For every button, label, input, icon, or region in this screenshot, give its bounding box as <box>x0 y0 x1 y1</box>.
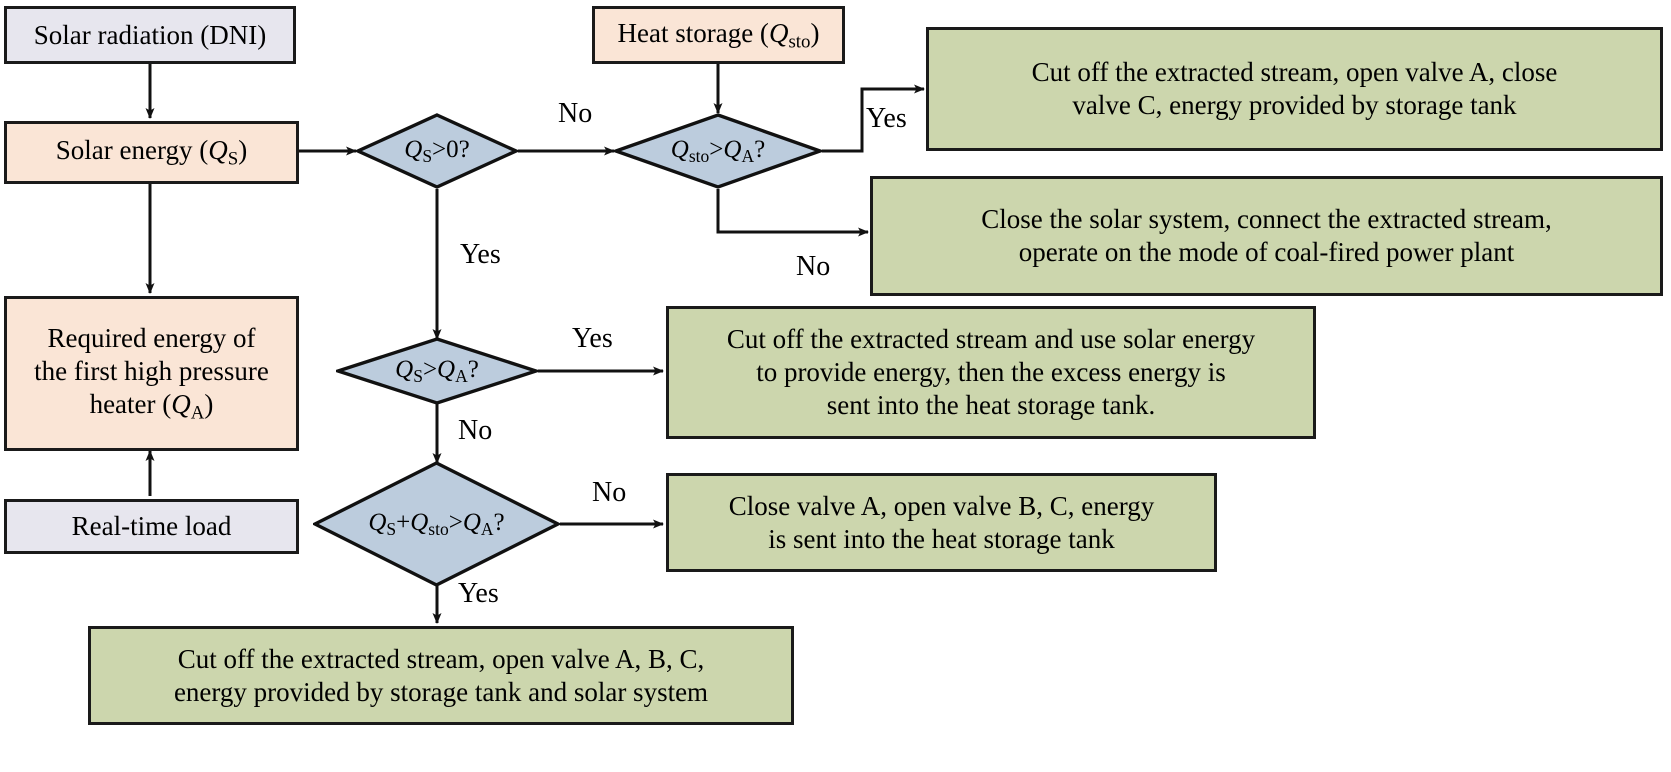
action-a2-line1: Close the solar system, connect the extr… <box>981 203 1552 236</box>
action-box-a2[interactable]: Close the solar system, connect the extr… <box>870 176 1663 296</box>
action-a1-line2: valve C, energy provided by storage tank <box>1072 89 1516 122</box>
node-solar-radiation[interactable]: Solar radiation (DNI) <box>4 6 296 64</box>
edge-label-d2-no: No <box>796 251 830 283</box>
action-box-a1[interactable]: Cut off the extracted stream, open valve… <box>926 27 1663 151</box>
node-required-energy[interactable]: Required energy of the first high pressu… <box>4 296 299 451</box>
decision-d2[interactable]: Qsto>QA? <box>614 113 822 189</box>
decision-d4[interactable]: QS+Qsto>QA? <box>313 461 560 587</box>
action-box-a4[interactable]: Close valve A, open valve B, C, energy i… <box>666 473 1217 572</box>
node-heat-storage-label: Heat storage (Qsto) <box>618 17 820 53</box>
action-a5-line1: Cut off the extracted stream, open valve… <box>178 643 705 676</box>
action-a2-line2: operate on the mode of coal-fired power … <box>1019 236 1515 269</box>
decision-d4-shape <box>313 461 560 587</box>
node-realtime-load[interactable]: Real-time load <box>4 499 299 554</box>
action-box-a5[interactable]: Cut off the extracted stream, open valve… <box>88 626 794 725</box>
action-a3-line3: sent into the heat storage tank. <box>827 389 1155 422</box>
node-realtime-load-label: Real-time load <box>72 510 232 543</box>
decision-d3-shape <box>336 337 538 405</box>
edge-label-d1-yes: Yes <box>460 239 501 271</box>
edge-label-d2-yes: Yes <box>866 103 907 135</box>
node-solar-energy[interactable]: Solar energy (QS) <box>4 121 299 184</box>
node-required-energy-line2: the first high pressure <box>34 355 269 388</box>
action-a5-line2: energy provided by storage tank and sola… <box>174 676 708 709</box>
flowchart-canvas: Solar radiation (DNI) Solar energy (QS) … <box>0 0 1671 772</box>
decision-d3[interactable]: QS>QA? <box>336 337 538 405</box>
node-solar-energy-label: Solar energy (QS) <box>56 134 247 170</box>
edge-label-d1-no: No <box>558 98 592 130</box>
edge-d2-no-to-a2 <box>718 189 868 232</box>
action-box-a3[interactable]: Cut off the extracted stream and use sol… <box>666 306 1316 439</box>
edge-label-d3-no: No <box>458 415 492 447</box>
decision-d1-shape <box>356 113 518 189</box>
decision-d1[interactable]: QS>0? <box>356 113 518 189</box>
action-a4-line2: is sent into the heat storage tank <box>768 523 1114 556</box>
action-a3-line2: to provide energy, then the excess energ… <box>756 356 1226 389</box>
action-a4-line1: Close valve A, open valve B, C, energy <box>729 490 1154 523</box>
edge-label-d4-yes: Yes <box>458 578 499 610</box>
edge-label-d4-no: No <box>592 477 626 509</box>
action-a1-line1: Cut off the extracted stream, open valve… <box>1032 56 1558 89</box>
action-a3-line1: Cut off the extracted stream and use sol… <box>727 323 1255 356</box>
node-required-energy-line1: Required energy of <box>48 322 256 355</box>
decision-d2-shape <box>614 113 822 189</box>
node-heat-storage[interactable]: Heat storage (Qsto) <box>592 6 845 64</box>
edge-label-d3-yes: Yes <box>572 323 613 355</box>
node-required-energy-line3: heater (QA) <box>90 388 214 424</box>
node-solar-radiation-label: Solar radiation (DNI) <box>34 19 266 52</box>
